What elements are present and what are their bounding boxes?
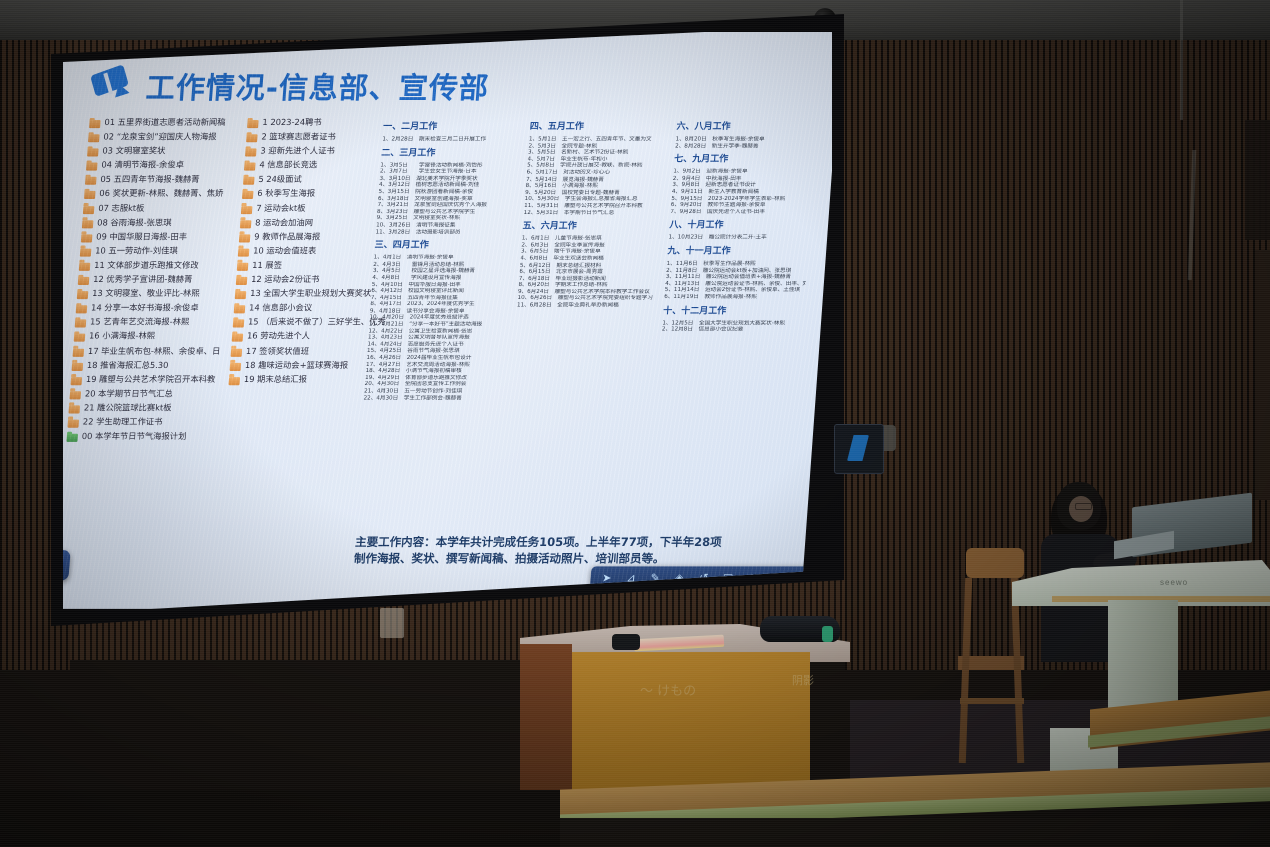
file-list-item-label: 21 雕公院篮球比赛kt板 [84, 402, 172, 412]
file-list-item[interactable]: 18 趣味运动会+篮球赛海报 [230, 359, 359, 370]
file-list-item[interactable]: 6 秋季写生海报 [242, 188, 371, 199]
month-entry: 8、4月17日 2023、2024年度优秀学生 [370, 301, 511, 308]
month-entry: 1、2月28日 期末检查三月二日开展工作 [382, 136, 523, 143]
file-list-item-label: 06 奖状更新-林熙、魏赫菁、焦娇 [99, 188, 224, 198]
file-list-item-label: 16 小满海报-林熙 [89, 331, 156, 341]
wall-right-column [1255, 250, 1270, 500]
folder-icon [232, 334, 244, 342]
folder-icon [67, 420, 79, 428]
file-list-item-label: 6 秋季写生海报 [257, 188, 315, 198]
file-list-item[interactable]: 16 劳动先进个人 [232, 331, 361, 342]
file-list-item[interactable]: 4 信息部长竞选 [244, 160, 373, 171]
month-section-heading: 一、二月工作 [383, 122, 524, 133]
file-list-item-label: 08 谷雨海报-张思琪 [97, 217, 172, 227]
file-list-item-label: 17 毕业生帆布包-林熙、余俊卓、日 [88, 345, 221, 355]
file-list-item[interactable]: 14 分享一本好书海报-余俊卓 [76, 302, 227, 313]
file-list-item-label: 7 运动会kt板 [256, 203, 306, 213]
folder-icon [241, 206, 253, 214]
file-list-item[interactable]: 10 五一劳动作-刘佳琪 [80, 245, 231, 256]
month-entry: 7、9月28日 国庆先进个人证书-田丰 [670, 209, 811, 216]
file-list-item-label: 18 推省海报汇总5.30 [87, 359, 169, 369]
wall-control-panel[interactable] [834, 424, 884, 474]
file-list-item-label: 05 五四青年节海报-魏赫菁 [100, 174, 200, 184]
file-list-item-label: 10 五一劳动作-刘佳琪 [95, 245, 178, 255]
summary-line-1: 主要工作内容：本学年共计完成任务105项。上半年77项，下半年28项 [355, 534, 786, 550]
month-entry: 6、4月12日 校园文明寝室评比新闻 [371, 288, 512, 295]
file-list-item[interactable]: 14 信息部小会议 [234, 302, 363, 313]
file-list-item[interactable]: 11 文体部步道乐跑推文修改 [79, 260, 230, 271]
month-entry: 10、4月20日 2024年度优秀班级评选 [369, 315, 510, 322]
month-entry: 19、4月29日 体育部步道乐跑推文修改 [365, 375, 506, 382]
folder-icon [87, 149, 99, 157]
month-section-heading: 五、六月工作 [522, 221, 663, 232]
month-entry: 11、5月31日 雕塑与公共艺术学院召开本科教 [524, 203, 665, 210]
file-list-item[interactable]: 7 运动会kt板 [241, 203, 370, 214]
month-entry: 7、6月18日 毕业班摄影活动新闻 [519, 276, 660, 283]
presentation-slide[interactable]: 工作情况-信息部、宣传部 01 五里界街道志愿者活动新闻稿02 “龙泉宝剑”迎国… [20, 32, 842, 609]
file-list-item[interactable]: 15 艺青年艺交流海报-林熙 [75, 317, 226, 328]
file-list-item[interactable]: 11 展签 [237, 260, 366, 271]
ceiling-seam [1180, 0, 1183, 120]
cursor-arrow-icon: ➤ [602, 573, 612, 584]
file-list-item-label: 13 文明寝室、敬业评比-林熙 [92, 288, 200, 298]
month-entry: 5、11月14日 运动会2份证书-林熙、余俊卓、王佳琪 [664, 287, 805, 294]
folder-icon [88, 134, 100, 142]
monthly-work-columns: 一、二月工作1、2月28日 期末检查三月二日开展工作二、三月工作1、3月5日 学… [360, 117, 818, 445]
month-entry: 4、11月13日 雕公院运动会证书-林熙、余俊、田丰、刘佳琪 [665, 281, 806, 288]
file-list-item-label: 14 信息部小会议 [249, 302, 313, 312]
folder-icon [235, 291, 247, 299]
folder-icon [233, 320, 245, 328]
month-entry: 6、11月19日 教师作品展海报-林熙 [664, 294, 805, 301]
month-entry: 5、6月12日 期末总结汇报材料 [520, 262, 661, 269]
file-list-item-label: 02 “龙泉宝剑”迎国庆人物海报 [103, 131, 217, 141]
file-list-item[interactable]: 15 （后来说不做了）三好学生、优秀 [233, 317, 362, 328]
month-entry: 5、9月15日 2023-2024学年学生表彰-林熙 [671, 196, 812, 203]
folder-icon [247, 120, 259, 128]
month-entry: 1、12月5日 全国大学生职业规划大赛奖状-林熙 [662, 320, 803, 327]
file-list-item-label: 03 文明寝室奖状 [102, 146, 166, 156]
file-list-item[interactable]: 06 奖状更新-林熙、魏赫菁、焦娇 [84, 188, 235, 199]
file-list-item[interactable]: 05 五四青年节海报-魏赫菁 [85, 174, 236, 185]
marker-pen-icon [89, 65, 138, 105]
file-list-item[interactable]: 1 2023-24聘书 [247, 117, 376, 128]
folder-icon [84, 191, 96, 199]
month-entry: 4、4月8日 学风建设月宣传海报 [372, 275, 513, 282]
month-entry: 17、4月27日 艺术交流周活动海报-林熙 [366, 362, 507, 369]
display-screen[interactable]: 工作情况-信息部、宣传部 01 五里界街道志愿者活动新闻稿02 “龙泉宝剑”迎国… [26, 14, 846, 626]
month-entry: 2、6月3日 全院毕业季宣传海报 [521, 242, 662, 249]
monthly-subcolumn-2: 四、五月工作1、5月1日 王一宏之行、五四青年节、文墨为文2、5月3日 全院专题… [507, 117, 671, 445]
monthly-subcolumn-1: 一、二月工作1、2月28日 期末检查三月二日开展工作二、三月工作1、3月5日 学… [360, 117, 524, 445]
folder-icon [237, 263, 249, 271]
folder-icon [82, 220, 94, 228]
month-section-heading: 四、五月工作 [529, 122, 670, 133]
month-entry: 9、6月24日 雕塑与公共艺术学院本科教学工作会议 [518, 289, 659, 296]
file-list-item-label: 09 中国华服日海报-田丰 [96, 231, 188, 241]
month-entry: 7、5月14日 展览海报-魏赫菁 [526, 176, 667, 183]
month-entry: 2、9月4日 中秋海报-田丰 [673, 175, 814, 182]
month-entry: 6、9月20日 教师节主题海报-余俊卓 [671, 202, 812, 209]
podium-brand-label: seewo [1160, 578, 1188, 587]
month-entry: 11、6月28日 全院毕业典礼举办新闻稿 [517, 302, 658, 309]
month-entry: 22、4月30日 学生工作部例会-魏赫菁 [363, 395, 504, 402]
month-entry: 1、3月5日 学雷锋活动新闻稿-刘怡彤 [380, 162, 521, 169]
file-list-item[interactable]: 18 推省海报汇总5.30 [72, 359, 223, 370]
folder-icon [242, 191, 254, 199]
file-list-item[interactable]: 3 迎新先进个人证书 [245, 146, 374, 157]
monthly-subcolumn-3: 六、八月工作1、8月20日 秋季写生海报-余俊卓2、8月28日 新生开学季-魏赫… [654, 117, 818, 445]
month-entry: 3、3月10日 湖北美术学院开学季奖状 [379, 175, 520, 182]
file-list-item[interactable]: 13 全国大学生职业规划大赛奖状 [235, 288, 364, 299]
month-entry: 9、5月20日 国校党委日专题-魏赫菁 [525, 190, 666, 197]
month-entry: 11、3月28日 活动摄影培训部员 [375, 229, 516, 236]
file-list-item[interactable]: 07 志服kt板 [83, 203, 234, 214]
month-entry: 6、3月18日 文明寝室创建海报-奖章 [378, 196, 519, 203]
file-list-item[interactable]: 02 “龙泉宝剑”迎国庆人物海报 [88, 131, 239, 142]
file-list-item-label: 2 篮球赛志愿者证书 [261, 131, 336, 141]
month-entry: 1、5月1日 王一宏之行、五四青年节、文墨为文 [529, 136, 670, 143]
month-entry: 2、4月3日 雷锋月活动总结-林熙 [373, 261, 514, 268]
month-entry: 18、4月28日 小满节气海报初稿审核 [365, 368, 506, 375]
month-entry: 8、3月23日 雕塑与公共艺术学院学生 [377, 209, 518, 216]
file-list-item-label: 19 期末总结汇报 [244, 374, 308, 384]
month-entry: 20、4月30日 全院团总支宣传工作例会 [364, 382, 505, 389]
folder-icon [81, 234, 93, 242]
file-list-item[interactable]: 08 谷雨海报-张思琪 [82, 217, 233, 228]
file-list-item-label: 10 运动会值班表 [253, 245, 317, 255]
file-list-item[interactable]: 09 中国华服日海报-田丰 [81, 231, 232, 242]
file-list-item-label: 8 运动会加油网 [255, 217, 313, 227]
month-entry: 2、3月7日 学生会女生节海报-日本 [380, 169, 521, 176]
file-list-item-label: 9 教师作品展海报 [254, 231, 321, 241]
month-entry: 5、4月10日 中国华服日海报-田丰 [372, 281, 513, 288]
file-list-item-label: 18 趣味运动会+篮球赛海报 [245, 359, 349, 369]
month-entry: 1、9月2日 迎新海报-余俊卓 [673, 169, 814, 176]
folder-icon [245, 149, 257, 157]
folder-icon [243, 177, 255, 185]
folder-icon [83, 206, 95, 214]
folder-icon [89, 120, 101, 128]
file-list-item-label: 15 艺青年艺交流海报-林熙 [90, 317, 190, 327]
month-entry: 9、4月18日 读书分享会海报-余俊卓 [370, 308, 511, 315]
month-entry: 1、6月1日 儿童节海报-张思琪 [522, 236, 663, 243]
file-list-item[interactable]: 2 篮球赛志愿者证书 [246, 131, 375, 142]
folder-icon [75, 320, 87, 328]
month-entry: 4、5月7日 毕业生帆布-年和小 [527, 156, 668, 163]
month-entry: 6、5月17日 对活动的文-珍心心 [526, 170, 667, 177]
file-list-item[interactable]: 16 小满海报-林熙 [74, 331, 225, 342]
month-section-heading: 二、三月工作 [381, 148, 522, 159]
month-section-heading: 八、十月工作 [669, 221, 810, 232]
month-entry: 6、6月15日 北京市展会-周秀霞 [519, 269, 660, 276]
month-entry: 12、5月31日 本学期节日节气汇总 [523, 210, 664, 217]
month-entry: 4、3月12日 植树志愿活动新闻稿-刘佳 [379, 182, 520, 189]
folder-icon [246, 134, 258, 142]
month-entry: 2、8月28日 新生开学季-魏赫菁 [675, 143, 816, 150]
front-bench-left-shadow [0, 790, 560, 847]
month-entry: 2、12月8日 信息部小会议纪要 [662, 327, 803, 334]
file-list-item-label: 12 运动会2份证书 [251, 274, 320, 284]
month-entry: 2、11月8日 雕公院运动会kt板+加油网、张思琪 [666, 267, 807, 274]
month-entry: 5、3月15日 院秋游团看新闻稿-余俊 [378, 189, 519, 196]
file-list-item-label: 20 本学期节日节气汇总 [85, 388, 174, 398]
file-list-item-label: 11 文体部步道乐跑推文修改 [94, 260, 199, 270]
folder-icon [240, 220, 252, 228]
file-list-item[interactable]: 13 文明寝室、敬业评比-林熙 [77, 288, 228, 299]
folder-icon [74, 334, 86, 342]
file-list-item[interactable]: 21 雕公院篮球比赛kt板 [68, 402, 219, 413]
file-list-item-label: 19 雕塑与公共艺术学院召开本科教 [86, 374, 216, 384]
summary-line-2: 制作海报、奖状、撰写新闻稿、拍摄活动照片、培训部员等。 [353, 550, 784, 566]
month-entry: 10、6月26日 雕塑与公共艺术学院党委组织专题学习 [517, 296, 658, 303]
folder-icon [230, 363, 242, 371]
month-entry: 7、3月21日 龙泉宝剑迎国庆优秀个人海报 [377, 202, 518, 209]
month-entry: 3、9月8日 迎新志愿者证书设计 [672, 182, 813, 189]
month-entry: 1、10月23日 雕公院计分表二开-王丰 [668, 235, 809, 242]
file-list-item[interactable]: 19 期末总结汇报 [229, 374, 358, 385]
file-list-item-label: 01 五里界街道志愿者活动新闻稿 [104, 117, 226, 127]
teaching-podium: seewo [1012, 548, 1270, 783]
month-section-heading: 十、十二月工作 [663, 306, 804, 317]
month-entry: 4、6月8日 毕业生欢送会新闻稿 [520, 256, 661, 263]
month-entry: 12、4月22日 公寓卫生检查新闻稿-张思 [368, 328, 509, 335]
folder-icon [234, 305, 246, 313]
month-entry: 8、5月16日 小满海报-林熙 [525, 183, 666, 190]
month-section-heading: 九、十一月工作 [667, 246, 808, 257]
month-entry: 3、4月5日 校园之星评选海报-魏赫菁 [372, 268, 513, 275]
folder-icon [71, 377, 83, 385]
month-entry: 15、4月25日 谷雨节气海报-张思琪 [367, 348, 508, 355]
month-entry: 1、11月6日 秋季写生作品展-林熙 [666, 261, 807, 268]
month-section-heading: 三、四月工作 [374, 241, 515, 252]
file-list-item[interactable]: 03 文明寝室奖状 [87, 146, 238, 157]
month-entry: 1、4月1日 清明节海报-余俊卓 [373, 255, 514, 262]
file-list-item[interactable]: 8 运动会加油网 [240, 217, 369, 228]
file-list-item-label: 15 （后来说不做了）三好学生、优秀 [248, 317, 386, 327]
file-list-item[interactable]: 00 本学年节日节气海报计划 [66, 431, 217, 442]
month-section-heading: 六、八月工作 [676, 122, 817, 133]
folder-icon [79, 263, 91, 271]
file-list-item-label: 11 展签 [252, 260, 283, 270]
month-entry: 14、4月24日 志愿服务先进个人证书 [367, 342, 508, 349]
folder-icon [86, 163, 98, 171]
file-list-item[interactable]: 17 毕业生帆布包-林熙、余俊卓、日 [73, 345, 224, 356]
file-list-item[interactable]: 5 24级面试 [243, 174, 372, 185]
folder-icon [239, 234, 251, 242]
file-list-item[interactable]: 9 教师作品展海报 [239, 231, 368, 242]
file-list-item[interactable]: 10 运动会值班表 [238, 245, 367, 256]
month-entry: 1、8月20日 秋季写生海报-余俊卓 [675, 136, 816, 143]
month-entry: 3、6月5日 端午节海报-余俊卓 [521, 249, 662, 256]
file-list-item-label: 3 迎新先进个人证书 [260, 146, 335, 156]
file-list-item-label: 07 志服kt板 [98, 203, 145, 213]
month-entry: 2、5月3日 全院专题-林熙 [528, 143, 669, 150]
file-list-item[interactable]: 20 本学期节日节气汇总 [70, 388, 221, 399]
file-list-item-label: 4 信息部长竞选 [259, 160, 317, 170]
file-list-item-label: 14 分享一本好书海报-余俊卓 [91, 302, 199, 312]
bottle-on-desk [822, 626, 833, 642]
file-list-item[interactable]: 12 优秀学子宣讲团-魏赫菁 [78, 274, 229, 285]
month-entry: 13、4月23日 公寓文明督导队宣传海报 [368, 335, 509, 342]
folder-icon [76, 305, 88, 313]
folder-icon [244, 163, 256, 171]
month-entry: 5、5月8日 学院开放日展交-教联、新院-林熙 [527, 163, 668, 170]
file-list-column-1: 01 五里界街道志愿者活动新闻稿02 “龙泉宝剑”迎国庆人物海报03 文明寝室奖… [66, 117, 240, 445]
slide-columns: 01 五里界街道志愿者活动新闻稿02 “龙泉宝剑”迎国庆人物海报03 文明寝室奖… [46, 113, 822, 445]
folder-icon [70, 391, 82, 399]
file-list-item-label: 04 清明节海报-余俊卓 [101, 160, 184, 170]
folder-icon [73, 348, 85, 356]
file-list-item-label: 1 2023-24聘书 [262, 117, 322, 127]
month-entry: 8、6月20日 学期末工作总结-林熙 [518, 282, 659, 289]
month-entry: 9、3月25日 文明寝室奖状-林熙 [376, 216, 517, 223]
folder-icon [238, 248, 250, 256]
month-entry: 16、4月26日 2024届毕业生帆布包设计 [366, 355, 507, 362]
slide-title-row: 工作情况-信息部、宣传部 [89, 64, 826, 107]
file-list-item-label: 16 劳动先进个人 [247, 331, 311, 341]
folder-icon [80, 248, 92, 256]
file-list-item-label: 5 24级面试 [258, 174, 302, 184]
file-list-item-label: 17 签领奖状值班 [246, 345, 310, 355]
file-list-item-label: 12 优秀学子宣讲团-魏赫菁 [93, 274, 193, 284]
folder-icon [72, 363, 84, 371]
summary-banner: 主要工作内容：本学年共计完成任务105项。上半年77项，下半年28项 制作海报、… [353, 534, 785, 566]
month-entry: 3、11月11日 雕公院运动会值班表+海报-魏赫菁 [665, 274, 806, 281]
month-entry: 10、5月30日 学生会海报汇总推省海报汇总 [524, 196, 665, 203]
month-entry: 4、9月11日 新生入学教育新闻稿 [672, 189, 813, 196]
page-title: 工作情况-信息部、宣传部 [145, 64, 491, 107]
month-section-heading: 七、九月工作 [674, 155, 815, 166]
folder-icon [229, 377, 241, 385]
month-entry: 7、4月15日 五四青年节海报征集 [371, 295, 512, 302]
month-entry: 3、5月5日 名新村、艺术节2份证-林熙 [528, 150, 669, 157]
month-entry: 21、4月30日 五一劳动节创作-刘佳琪 [364, 388, 505, 395]
folder-icon [85, 177, 97, 185]
file-list-item-label: 00 本学年节日节气海报计划 [82, 431, 187, 441]
file-list-item[interactable]: 17 签领奖状值班 [231, 345, 360, 356]
document-icon [66, 434, 78, 442]
file-list-item[interactable]: 12 运动会2份证书 [236, 274, 365, 285]
wall-speaker [1245, 120, 1270, 240]
wall-outlet-plate [380, 608, 404, 638]
file-list-item[interactable]: 01 五里界街道志愿者活动新闻稿 [89, 117, 240, 128]
folder-icon [68, 405, 80, 413]
month-entry: 10、3月26日 清明节海报征集 [376, 222, 517, 229]
folder-icon [77, 291, 89, 299]
folder-icon [78, 277, 90, 285]
file-list-item[interactable]: 04 清明节海报-余俊卓 [86, 160, 237, 171]
file-list-item[interactable]: 19 雕塑与公共艺术学院召开本科教 [71, 374, 222, 385]
small-device-on-desk [612, 634, 640, 650]
file-list-item-label: 13 全国大学生职业规划大赛奖状 [250, 288, 372, 298]
file-list-item[interactable]: 22 学生助理工作证书 [67, 417, 218, 428]
folder-icon [231, 348, 243, 356]
file-list-column-2: 1 2023-24聘书2 篮球赛志愿者证书3 迎新先进个人证书4 信息部长竞选5… [224, 117, 376, 445]
folder-icon [236, 277, 248, 285]
lecture-hall-photo: seewo 工作情况-信息部、宣传部 01 五里界街道志愿者活动新闻稿02 “龙… [0, 0, 1270, 847]
file-list-item-label: 22 学生助理工作证书 [83, 417, 163, 427]
month-entry: 11、4月21日 “分享一本好书”主题活动海报 [369, 321, 510, 328]
